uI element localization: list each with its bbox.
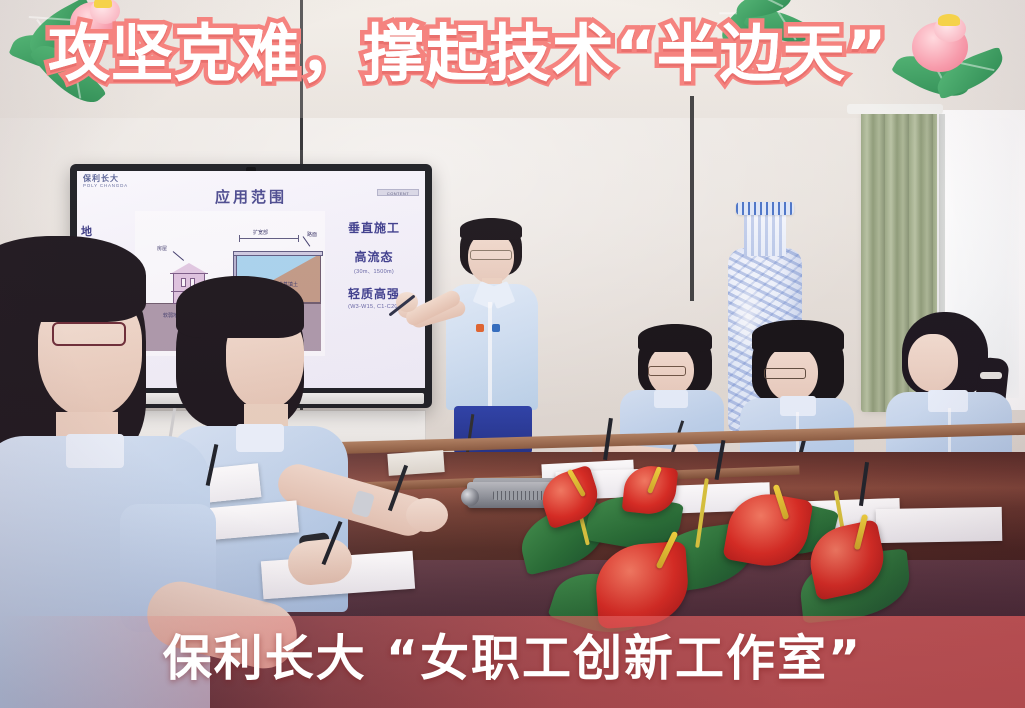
presenter-badge-blue [492, 324, 500, 332]
presenter-fringe [460, 218, 522, 240]
diagram-label-widening: 扩宽部 [253, 229, 268, 236]
person-collar [236, 424, 284, 452]
diagram-dimension-right-tick [298, 235, 299, 242]
presenter-glasses-icon [470, 250, 512, 260]
person-hand [406, 498, 448, 532]
glasses-icon [648, 366, 686, 376]
anthurium-bloom [722, 488, 813, 573]
vase-lip [736, 202, 794, 215]
diagram-dimension-line [239, 238, 299, 239]
slide-logo-cn: 保利长大 [83, 175, 128, 183]
wall-seam-right [690, 96, 694, 301]
slide-badge: CONTENT [377, 189, 419, 196]
person-face [908, 334, 958, 392]
presenter-shirt-placket [488, 302, 492, 408]
vase-neck [744, 210, 786, 256]
diagram-dimension-left-tick [239, 235, 240, 242]
poster-caption: 保利长大 “女职工创新工作室” [0, 619, 1025, 690]
diagram-label-road-surface: 路面 [307, 231, 317, 238]
person-collar [66, 434, 124, 468]
presenter-badge-orange [476, 324, 484, 332]
hair-tie [980, 372, 1002, 379]
glasses-icon [764, 368, 806, 379]
blossom-stamen-icon [94, 0, 112, 8]
poster-title: 攻坚克难，撑起技术“半边天” [48, 22, 948, 85]
person-fringe [752, 320, 844, 352]
glasses-icon [52, 322, 126, 346]
person-fringe [0, 236, 146, 322]
diagram-road-surface [233, 251, 323, 256]
slide-feature-2: 高流态 [328, 248, 420, 265]
notebook-stack [387, 450, 444, 476]
projector-lens-icon [461, 488, 479, 506]
slide-feature-2-sub: (30m、1500m) [328, 267, 420, 275]
slide-title: 应用范围 [77, 186, 425, 207]
slide-feature-1: 垂直施工 [328, 219, 420, 236]
person-collar [654, 390, 688, 408]
poster-root: 保利长大 POLY CHANGDA 应用范围 CONTENT 地 [0, 0, 1025, 708]
person-fringe [638, 324, 712, 352]
